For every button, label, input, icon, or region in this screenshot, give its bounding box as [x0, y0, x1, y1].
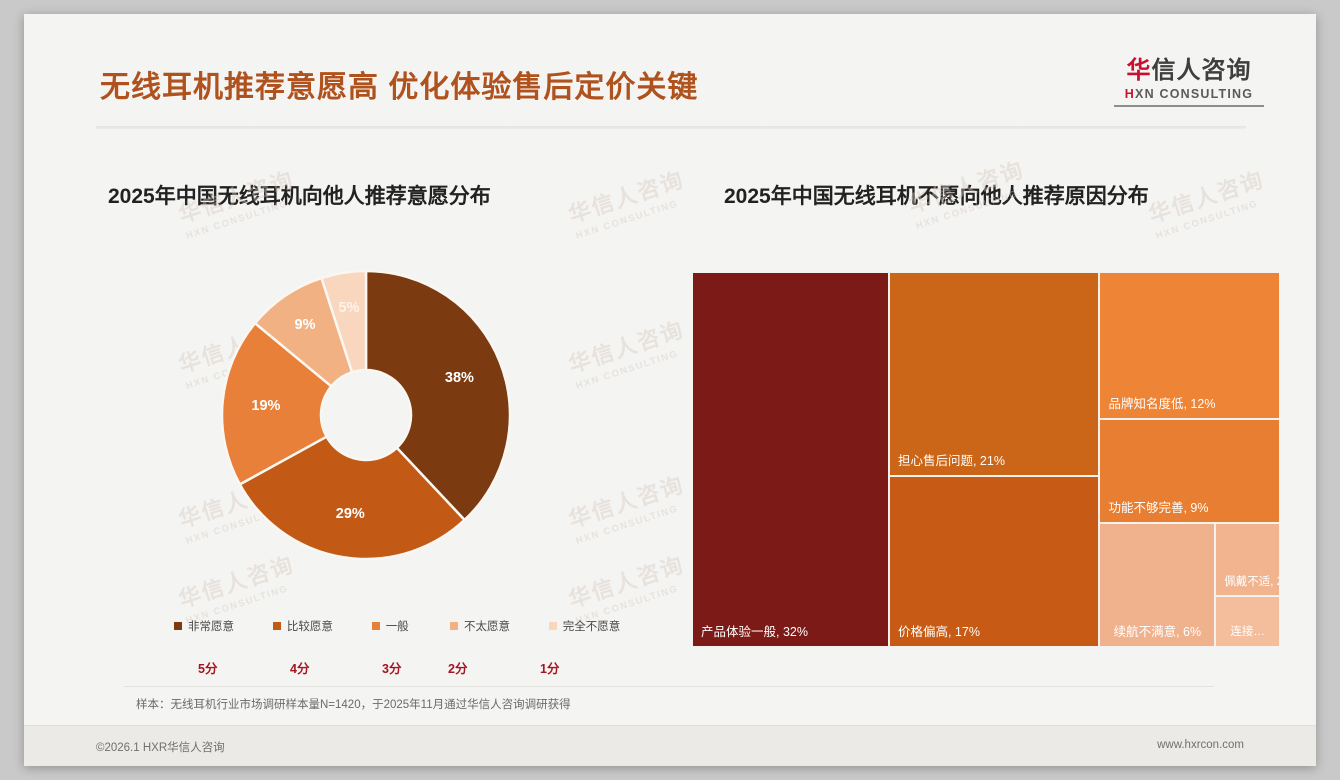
- legend-item[interactable]: 一般: [372, 618, 424, 634]
- legend-item[interactable]: 非常愿意: [174, 618, 247, 634]
- score-label: 3分: [358, 658, 424, 677]
- watermark: 华信人咨询HXN CONSULTING: [1144, 162, 1272, 242]
- treemap-cell[interactable]: 佩戴不适, 2%: [1215, 523, 1280, 597]
- screenshot-stage: 无线耳机推荐意愿高 优化体验售后定价关键 华信人咨询 HXN CONSULTIN…: [0, 0, 1340, 780]
- treemap-cell-label: 价格偏高, 17%: [898, 621, 980, 640]
- logo-english: HXN CONSULTING: [1114, 87, 1264, 101]
- treemap-cell-label: 品牌知名度低, 12%: [1108, 393, 1215, 412]
- donut-svg: [191, 269, 541, 561]
- legend-label: 比较愿意: [287, 618, 333, 634]
- treemap-cell-label: 功能不够完善, 9%: [1108, 497, 1208, 516]
- logo-underline: [1114, 105, 1264, 107]
- watermark: 华信人咨询HXN CONSULTING: [564, 467, 692, 547]
- legend-label: 不太愿意: [464, 618, 510, 634]
- slide-footer: ©2026.1 HXR华信人咨询 www.hxrcon.com: [24, 725, 1316, 766]
- score-label: 5分: [174, 658, 266, 677]
- donut-legend: 非常愿意比较愿意一般不太愿意完全不愿意: [174, 618, 654, 634]
- legend-item[interactable]: 比较愿意: [273, 618, 346, 634]
- right-chart-title: 2025年中国无线耳机不愿向他人推荐原因分布: [724, 180, 1149, 210]
- footer-copyright: ©2026.1 HXR华信人咨询: [96, 739, 225, 755]
- company-logo: 华信人咨询 HXN CONSULTING: [1114, 58, 1264, 107]
- legend-swatch: [174, 622, 182, 630]
- recommendation-donut-chart: 38%29%19%9%5%: [191, 269, 541, 561]
- watermark: 华信人咨询HXN CONSULTING: [564, 162, 692, 242]
- treemap-cell-label: 续航不满意, 6%: [1105, 625, 1210, 640]
- treemap-cell[interactable]: 产品体验一般, 32%: [692, 272, 889, 647]
- treemap-cell-label: 产品体验一般, 32%: [701, 621, 808, 640]
- score-row: 5分4分3分2分1分: [174, 658, 654, 677]
- legend-label: 一般: [386, 618, 409, 634]
- sample-note: 样本：无线耳机行业市场调研样本量N=1420，于2025年11月通过华信人咨询调…: [136, 696, 571, 712]
- treemap-cell-label: 担心售后问题, 21%: [898, 450, 1005, 469]
- legend-label: 完全不愿意: [563, 618, 621, 634]
- left-chart-title: 2025年中国无线耳机向他人推荐意愿分布: [108, 180, 491, 210]
- legend-swatch: [549, 622, 557, 630]
- slide: 无线耳机推荐意愿高 优化体验售后定价关键 华信人咨询 HXN CONSULTIN…: [24, 14, 1316, 766]
- treemap-cell[interactable]: 担心售后问题, 21%: [889, 272, 1100, 476]
- slide-header: 无线耳机推荐意愿高 优化体验售后定价关键 华信人咨询 HXN CONSULTIN…: [24, 14, 1316, 124]
- treemap-cell-label: 连接…: [1219, 626, 1277, 640]
- donut-slice-label: 19%: [251, 398, 280, 414]
- score-label: 4分: [266, 658, 358, 677]
- legend-item[interactable]: 完全不愿意: [549, 618, 628, 634]
- score-label: 1分: [516, 658, 616, 677]
- watermark: 华信人咨询HXN CONSULTING: [564, 312, 692, 392]
- footer-website[interactable]: www.hxrcon.com: [1157, 739, 1244, 751]
- logo-chinese: 华信人咨询: [1114, 58, 1264, 84]
- treemap-cell[interactable]: 品牌知名度低, 12%: [1099, 272, 1280, 419]
- logo-chinese-red: 华: [1127, 57, 1152, 84]
- header-divider: [96, 126, 1246, 129]
- legend-swatch: [273, 622, 281, 630]
- donut-slice-label: 5%: [339, 300, 360, 316]
- page-title: 无线耳机推荐意愿高 优化体验售后定价关键: [100, 62, 698, 106]
- treemap-cell[interactable]: 连接…: [1215, 596, 1280, 647]
- logo-english-red: H: [1125, 87, 1135, 101]
- reasons-treemap-chart: 产品体验一般, 32%担心售后问题, 21%价格偏高, 17%品牌知名度低, 1…: [692, 272, 1280, 647]
- treemap-cell[interactable]: 续航不满意, 6%: [1099, 523, 1215, 648]
- logo-chinese-rest: 信人咨询: [1152, 57, 1252, 84]
- logo-english-rest: XN CONSULTING: [1135, 87, 1253, 101]
- sample-divider: [124, 686, 1214, 687]
- watermark: 华信人咨询HXN CONSULTING: [564, 547, 692, 627]
- legend-swatch: [450, 622, 458, 630]
- score-label: 2分: [424, 658, 516, 677]
- legend-label: 非常愿意: [188, 618, 234, 634]
- donut-slice-label: 29%: [336, 506, 365, 522]
- treemap-cell[interactable]: 功能不够完善, 9%: [1099, 419, 1280, 523]
- legend-swatch: [372, 622, 380, 630]
- legend-item[interactable]: 不太愿意: [450, 618, 523, 634]
- donut-slice-label: 9%: [295, 317, 316, 333]
- treemap-cell-label: 佩戴不适, 2%: [1224, 573, 1280, 589]
- donut-slice-label: 38%: [445, 370, 474, 386]
- treemap-cell[interactable]: 价格偏高, 17%: [889, 476, 1100, 647]
